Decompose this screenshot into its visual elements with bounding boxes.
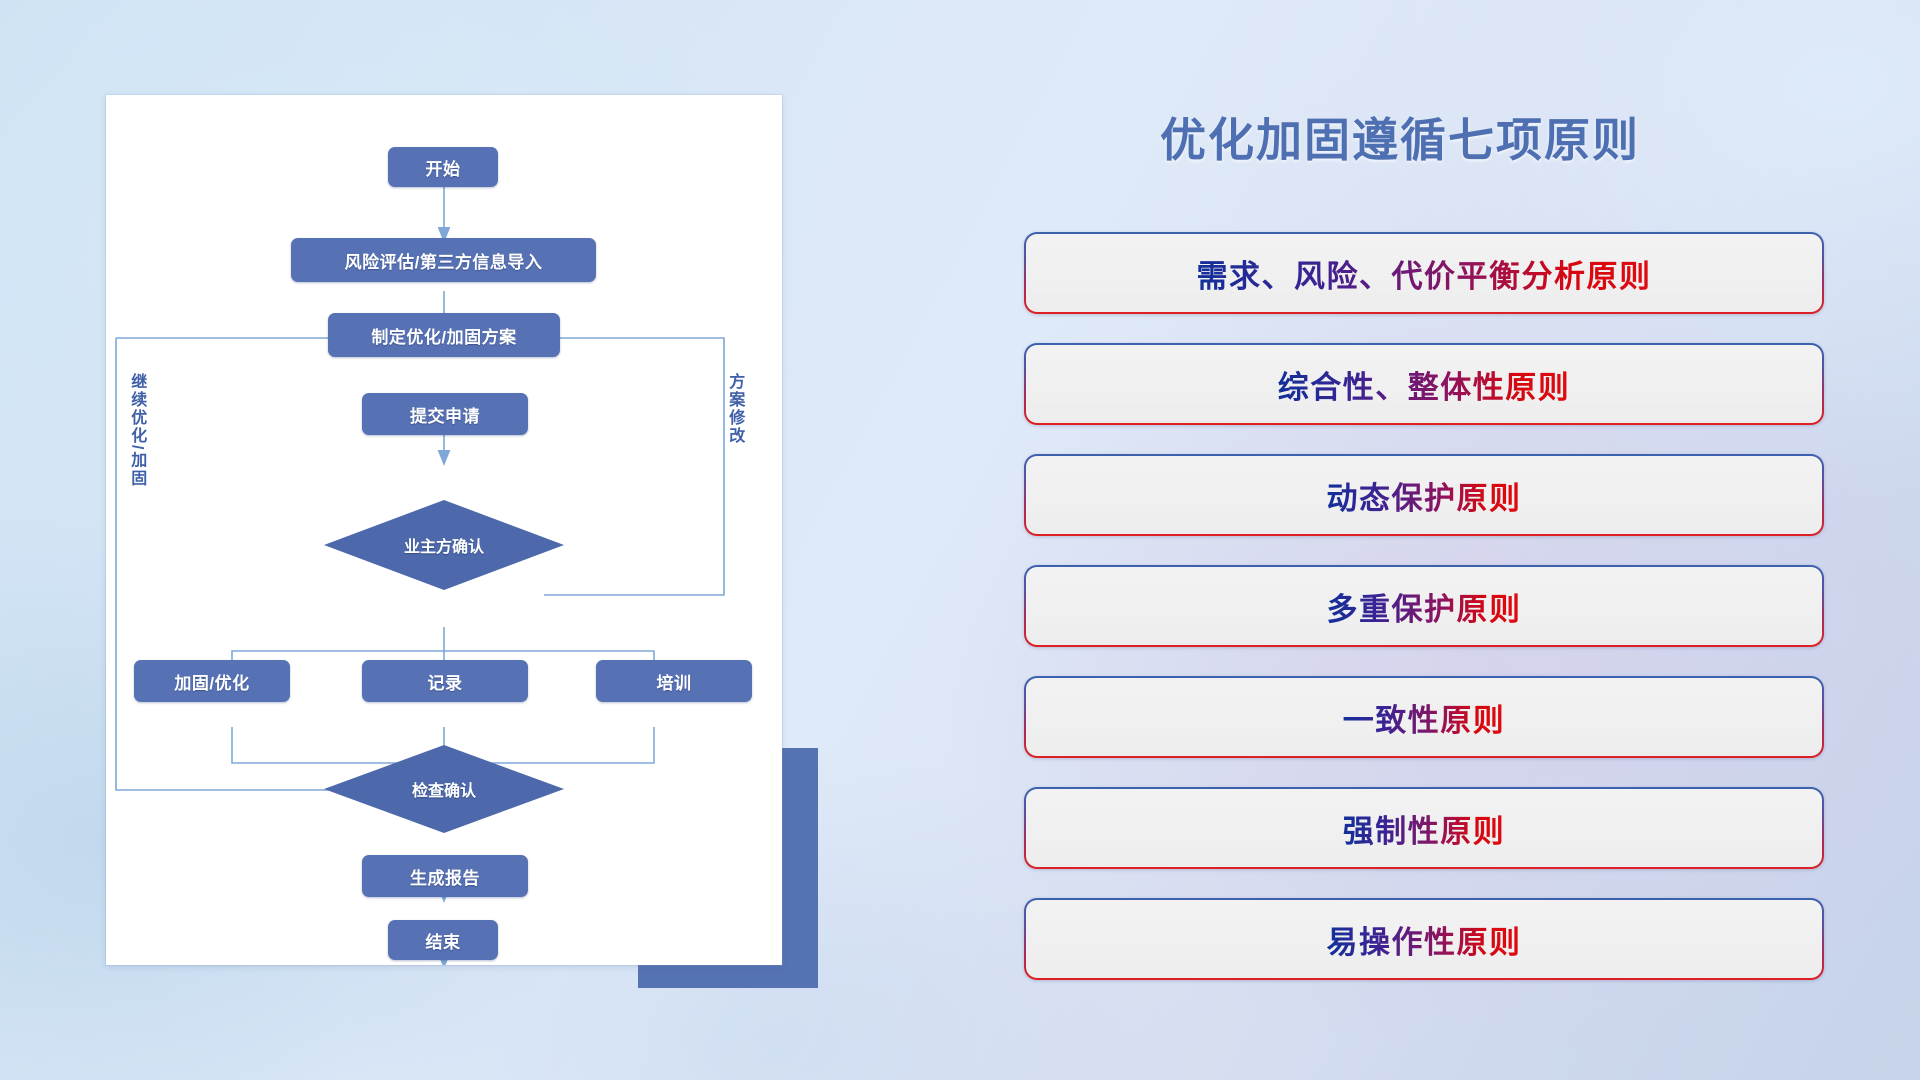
principle-item-2[interactable]: 综合性、整体性原则 [1024,343,1824,425]
principle-label: 需求、风险、代价平衡分析原则 [1197,251,1652,296]
flow-node-label: 记录 [428,669,463,694]
flow-node-label: 加固/优化 [174,669,249,694]
flow-node-label: 风险评估/第三方信息导入 [345,248,543,273]
principle-item-1[interactable]: 需求、风险、代价平衡分析原则 [1024,232,1824,314]
flow-node-label: 检查确认 [412,777,476,801]
flow-node-owner-confirm[interactable]: 业主方确认 [324,500,564,590]
principle-item-inner: 动态保护原则 [1026,456,1822,534]
flow-node-start[interactable]: 开始 [388,147,498,187]
flow-node-label: 结束 [426,928,461,953]
flow-node-label: 开始 [426,155,461,180]
flow-node-submit-application[interactable]: 提交申请 [362,393,528,435]
flow-node-label: 制定优化/加固方案 [371,323,516,348]
principle-label: 强制性原则 [1343,806,1506,851]
principle-item-inner: 一致性原则 [1026,678,1822,756]
flow-node-label: 培训 [657,669,692,694]
flow-node-inspection-confirm[interactable]: 检查确认 [324,745,564,833]
principle-item-inner: 需求、风险、代价平衡分析原则 [1026,234,1822,312]
flow-node-label: 业主方确认 [404,533,484,557]
principle-item-5[interactable]: 一致性原则 [1024,676,1824,758]
flow-node-end[interactable]: 结束 [388,920,498,960]
flow-node-reinforce-optimize[interactable]: 加固/优化 [134,660,290,702]
principle-item-4[interactable]: 多重保护原则 [1024,565,1824,647]
flow-node-record[interactable]: 记录 [362,660,528,702]
flow-node-make-plan[interactable]: 制定优化/加固方案 [328,313,560,357]
flow-node-label: 生成报告 [410,864,480,889]
flow-edge-label-continue-optimize: 继续优化/加固 [128,373,145,487]
principle-label: 一致性原则 [1343,695,1506,740]
page-title: 优化加固遵循七项原则 [1000,104,1800,170]
principle-item-inner: 易操作性原则 [1026,900,1822,978]
flow-node-label: 提交申请 [410,402,480,427]
principle-label: 多重保护原则 [1327,584,1522,629]
principle-item-inner: 综合性、整体性原则 [1026,345,1822,423]
principles-panel: 优化加固遵循七项原则 需求、风险、代价平衡分析原则 综合性、整体性原则 动态保护… [1000,0,1920,1080]
flow-edge-label-plan-revision: 方案修改 [726,373,743,445]
flow-node-training[interactable]: 培训 [596,660,752,702]
principle-label: 动态保护原则 [1327,473,1522,518]
principle-item-inner: 强制性原则 [1026,789,1822,867]
principle-label: 综合性、整体性原则 [1278,362,1571,407]
principle-label: 易操作性原则 [1327,917,1522,962]
principles-list: 需求、风险、代价平衡分析原则 综合性、整体性原则 动态保护原则 多重保护原则 一… [1024,232,1824,1009]
principle-item-7[interactable]: 易操作性原则 [1024,898,1824,980]
principle-item-inner: 多重保护原则 [1026,567,1822,645]
flowchart-card: 开始 风险评估/第三方信息导入 制定优化/加固方案 提交申请 业主方确认 加固/… [106,95,782,965]
principle-item-6[interactable]: 强制性原则 [1024,787,1824,869]
principle-item-3[interactable]: 动态保护原则 [1024,454,1824,536]
flow-node-risk-assessment[interactable]: 风险评估/第三方信息导入 [291,238,596,282]
flow-node-generate-report[interactable]: 生成报告 [362,855,528,897]
